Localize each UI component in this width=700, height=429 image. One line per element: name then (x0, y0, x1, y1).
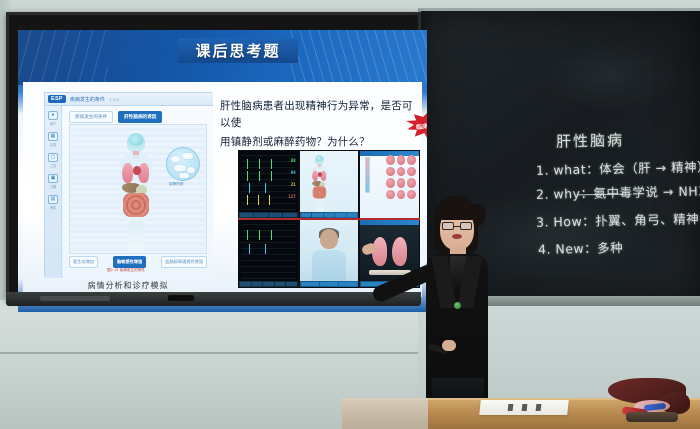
sidebar-label-archive: 资料 (50, 205, 56, 210)
desk-side-panel (342, 398, 428, 429)
app-sidebar[interactable]: ● 用户 ▦ 目录 ▢ 工具 ▣ 习题 (45, 106, 62, 278)
esp-logo: ESP (48, 95, 66, 103)
spo2-trace (242, 183, 278, 193)
heart-shape (133, 166, 141, 175)
blackboard-line-1: 1. what：体会（肝 → 精神） (536, 156, 700, 179)
band-rays-right (287, 30, 427, 85)
cell-vital-signs-monitor[interactable]: 88 94 21 127 (239, 151, 298, 218)
wall-display[interactable]: 课后思考题 ESP 疾病发生的条件 1.2.6 ● 用户 ▦ (6, 12, 421, 300)
anatomy-canvas[interactable]: 镇静药物 (69, 124, 207, 254)
grid-icon: ▣ (48, 174, 58, 183)
blackboard-title: 肝性脑病 (556, 129, 624, 151)
patient-toolbar[interactable] (300, 281, 359, 287)
panel-caption: 病情分析和诊疗模拟 (44, 280, 212, 291)
monitor2-trace-2 (242, 244, 278, 254)
ecg-trace-2 (242, 171, 278, 181)
app-topbar: ESP 疾病发生的条件 1.2.6 (45, 93, 213, 106)
lower-hand (442, 340, 456, 351)
slide-title: 课后思考题 (195, 40, 280, 61)
note-icon: ▢ (48, 153, 58, 162)
grid-row-separator (238, 218, 420, 220)
book-icon: ▦ (48, 132, 58, 141)
tab-disease-conditions[interactable]: 疾病发生的条件 (69, 111, 113, 123)
question-line-1: 肝性脑病患者出现精神行为异常，是否可以使 (220, 98, 420, 132)
blackboard-line-4: 4. New：多种 (538, 237, 624, 258)
reading-rr: 21 (291, 182, 296, 187)
clinical-treatment-badge: 临床治疗 (406, 112, 427, 140)
option-ammonia-increase[interactable]: 氨生成增加 (69, 256, 98, 268)
tab-he-triggers[interactable]: 肝性脑病的诱因 (118, 111, 162, 123)
glasses-icon (442, 222, 472, 230)
lung-left-shape (122, 163, 133, 183)
presentation-slide: 课后思考题 ESP 疾病发生的条件 1.2.6 ● 用户 ▦ (18, 30, 427, 312)
figure-note: 图2.15 疾病发生的条件 (107, 268, 145, 273)
app-tabs[interactable]: 疾病发生的条件 肝性脑病的诱因 (69, 111, 162, 123)
sidebar-item-book[interactable]: ▦ 目录 (48, 132, 58, 147)
user-icon: ● (48, 111, 58, 120)
brain-icon (129, 135, 143, 146)
cell-anatomy-viewer[interactable] (300, 151, 359, 218)
wall-seam-line (0, 352, 420, 354)
reading-spo2: 94 (291, 170, 296, 175)
blackboard-line-2: 2. why：氨中毒学说 → NH3↑ (536, 180, 700, 203)
hair-fringe (437, 202, 477, 220)
classroom-scene: 肝性脑病 1. what：体会（肝 → 精神） 2. why：氨中毒学说 → N… (0, 0, 700, 429)
resp-trace (242, 195, 278, 205)
sidebar-item-archive[interactable]: ▤ 资料 (48, 195, 58, 210)
display-brand-logo (168, 295, 194, 301)
sidebar-label-grid: 习题 (50, 184, 56, 189)
monitor2-trace-1 (242, 230, 278, 240)
sidebar-label-book: 目录 (50, 142, 56, 147)
ecg-trace-1 (242, 159, 278, 169)
anatomy-thumb (308, 155, 331, 216)
sidebar-item-note[interactable]: ▢ 工具 (48, 153, 58, 168)
lapel-badge (454, 302, 461, 309)
patient-gown (312, 250, 346, 284)
desk-papers[interactable] (479, 400, 569, 415)
blackboard-line-3: 3. How：扑翼、角弓、精神 (536, 208, 700, 230)
reading-nbp: 127 (288, 194, 295, 199)
cell-patient-video[interactable] (300, 220, 359, 287)
slide-question: 肝性脑病患者出现精神行为异常，是否可以使 用镇静剂或麻醉药物？为什么？ (220, 98, 420, 151)
patient-head (320, 229, 338, 249)
zoom-caption: 镇静药物 (169, 182, 183, 187)
mouth (452, 234, 462, 239)
reading-hr: 88 (291, 158, 296, 163)
sidebar-item-grid[interactable]: ▣ 习题 (48, 174, 58, 189)
band-rays-left (18, 30, 108, 85)
display-control-strip[interactable] (40, 296, 110, 301)
slide-title-box: 课后思考题 (178, 38, 298, 63)
sidebar-label-note: 工具 (50, 163, 56, 168)
app-topbar-title: 疾病发生的条件 (70, 96, 105, 103)
legs-shape (128, 221, 144, 251)
chalk-smudge (541, 41, 681, 111)
cell-secondary-monitor[interactable] (239, 220, 298, 287)
monitor2-button-bar[interactable] (239, 281, 298, 287)
option-bbb-permeability[interactable]: 血脑屏障通透性增强 (161, 256, 207, 268)
gradient-scale-bar (365, 157, 370, 193)
option-brain-sensitivity[interactable]: 脑敏感性增强 (113, 256, 146, 268)
chair-back (432, 378, 484, 400)
app-topbar-subtitle: 1.2.6 (109, 97, 119, 102)
drug-zoom-bubble (166, 147, 200, 181)
question-line-2: 用镇静剂或麻醉药物？为什么？ (220, 134, 420, 151)
archive-icon: ▤ (48, 195, 58, 204)
liver-anatomical-model[interactable] (604, 378, 692, 426)
human-anatomy-figure (114, 133, 158, 251)
intestine-shape (123, 193, 149, 217)
model-base (626, 412, 678, 422)
sidebar-label-user: 用户 (50, 121, 56, 126)
app-content: 疾病发生的条件 肝性脑病的诱因 (63, 106, 213, 278)
simulation-app-panel[interactable]: ESP 疾病发生的条件 1.2.6 ● 用户 ▦ 目录 ▢ 工具 (44, 92, 212, 277)
option-button-row[interactable]: 氨生成增加 脑敏感性增强 血脑屏障通透性增强 (69, 256, 207, 268)
sidebar-item-user[interactable]: ● 用户 (48, 111, 58, 126)
